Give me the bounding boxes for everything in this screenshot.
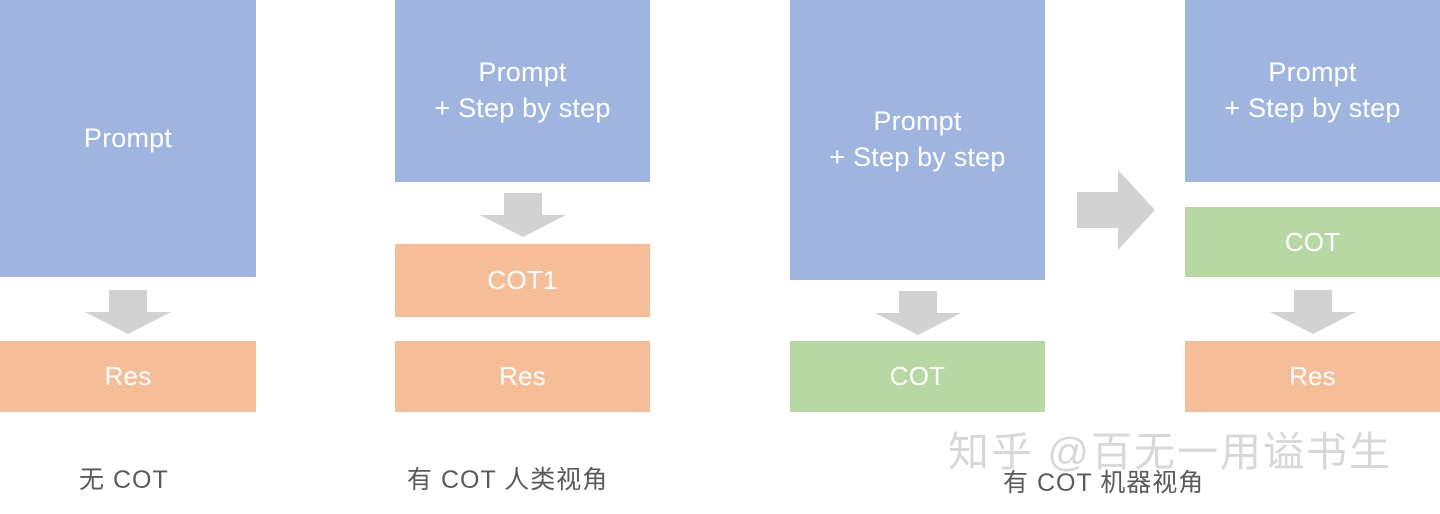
box-col3-cot: COT [790, 341, 1045, 412]
box-col1-res: Res [0, 341, 256, 412]
arrow-down-icon [85, 290, 171, 334]
box-col1-prompt: Prompt [0, 0, 256, 277]
watermark: 知乎 @百无一用谥书生 [948, 418, 1392, 478]
arrow-down-icon [1270, 290, 1356, 334]
arrow-down-icon [875, 291, 961, 335]
box-col3-prompt-step: Prompt + Step by step [790, 0, 1045, 280]
box-col4-prompt-step: Prompt + Step by step [1185, 0, 1440, 182]
box-col2-prompt-step: Prompt + Step by step [395, 0, 650, 182]
diagram-canvas: Prompt Res 无 COT Prompt + Step by step C… [0, 0, 1440, 514]
box-col4-cot: COT [1185, 207, 1440, 277]
box-col2-cot1: COT1 [395, 244, 650, 317]
arrow-right-icon [1077, 170, 1155, 250]
box-col2-res: Res [395, 341, 650, 412]
column-label-cot-human-view: 有 COT 人类视角 [407, 460, 608, 496]
box-col4-res: Res [1185, 341, 1440, 412]
column-label-no-cot: 无 COT [79, 460, 169, 496]
arrow-down-icon [480, 193, 566, 237]
